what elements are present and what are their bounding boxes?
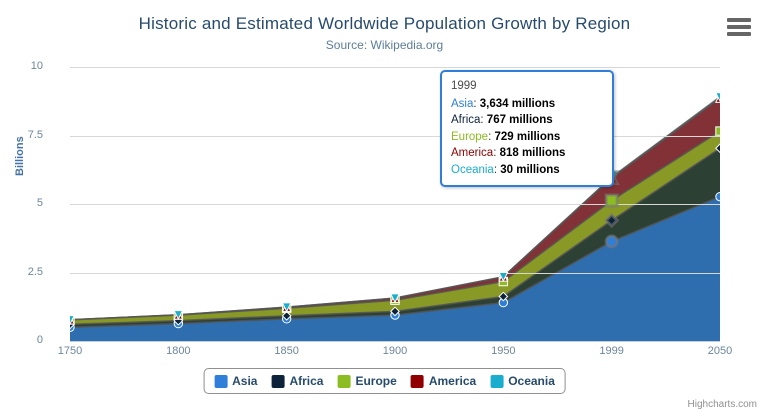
tooltip-row-europe: Europe: 729 millions [451, 129, 603, 146]
y-axis-tick-label: 0 [3, 334, 43, 346]
menu-bar-2 [727, 25, 751, 29]
y-axis-tick-label: 10 [3, 60, 43, 72]
chart-container: Historic and Estimated Worldwide Populat… [0, 0, 769, 416]
legend-item-oceania[interactable]: Oceania [490, 374, 555, 388]
legend-swatch-asia [214, 375, 227, 388]
point-tooltip: 1999 Asia: 3,634 millionsAfrica: 767 mil… [440, 70, 614, 187]
marker-asia-2050[interactable] [716, 192, 720, 200]
x-axis-tick-label: 1750 [40, 345, 100, 357]
tooltip-series-name: Asia [451, 98, 473, 110]
legend-swatch-africa [271, 375, 284, 388]
plot-area [70, 67, 720, 341]
tooltip-series-name: Oceania [451, 164, 494, 176]
highcharts-credit[interactable]: Highcharts.com [688, 399, 757, 410]
tooltip-series-value: 729 millions [494, 131, 560, 143]
y-axis-tick-label: 7.5 [3, 129, 43, 141]
tooltip-row-africa: Africa: 767 millions [451, 112, 603, 129]
gridline [70, 341, 720, 342]
tooltip-series-name: Africa [451, 114, 480, 126]
legend-swatch-oceania [490, 375, 503, 388]
tooltip-series-value: 818 millions [500, 147, 566, 159]
menu-bar-1 [727, 18, 751, 22]
legend-label: Asia [232, 374, 257, 388]
legend-item-africa[interactable]: Africa [271, 374, 323, 388]
y-axis-tick-label: 2.5 [3, 266, 43, 278]
tooltip-series-value: 3,634 millions [480, 98, 555, 110]
tooltip-series-name: America [451, 147, 493, 159]
marker-europe-1999[interactable] [606, 195, 617, 206]
legend-label: Africa [289, 374, 323, 388]
tooltip-series-value: 767 millions [487, 114, 553, 126]
chart-legend[interactable]: AsiaAfricaEuropeAmericaOceania [203, 368, 566, 394]
marker-africa-1999[interactable] [606, 215, 617, 226]
legend-label: Europe [355, 374, 396, 388]
markers-layer [70, 67, 720, 341]
legend-label: Oceania [508, 374, 555, 388]
x-axis-tick-label: 1800 [148, 345, 208, 357]
hamburger-menu-icon[interactable] [727, 18, 751, 36]
tooltip-series-value: 30 millions [500, 164, 559, 176]
marker-asia-1999[interactable] [606, 236, 617, 247]
y-axis-tick-label: 5 [3, 197, 43, 209]
x-axis-tick-label: 1900 [365, 345, 425, 357]
legend-swatch-america [411, 375, 424, 388]
legend-swatch-europe [337, 375, 350, 388]
tooltip-row-oceania: Oceania: 30 millions [451, 162, 603, 179]
tooltip-header: 1999 [451, 78, 603, 95]
x-axis-tick-label: 2050 [690, 345, 750, 357]
tooltip-row-asia: Asia: 3,634 millions [451, 96, 603, 113]
legend-item-america[interactable]: America [411, 374, 476, 388]
x-axis-tick-label: 1850 [257, 345, 317, 357]
tooltip-rows: Asia: 3,634 millionsAfrica: 767 millions… [451, 96, 603, 179]
legend-item-asia[interactable]: Asia [214, 374, 257, 388]
legend-item-europe[interactable]: Europe [337, 374, 396, 388]
x-axis-tick-label: 1999 [582, 345, 642, 357]
y-axis-title: Billions [14, 136, 26, 176]
chart-title: Historic and Estimated Worldwide Populat… [0, 14, 769, 34]
x-axis-tick-label: 1950 [473, 345, 533, 357]
legend-label: America [429, 374, 476, 388]
marker-africa-2050[interactable] [716, 144, 720, 152]
tooltip-series-name: Europe [451, 131, 488, 143]
marker-europe-2050[interactable] [716, 127, 720, 135]
tooltip-row-america: America: 818 millions [451, 145, 603, 162]
chart-subtitle: Source: Wikipedia.org [0, 38, 769, 52]
menu-bar-3 [727, 32, 751, 36]
